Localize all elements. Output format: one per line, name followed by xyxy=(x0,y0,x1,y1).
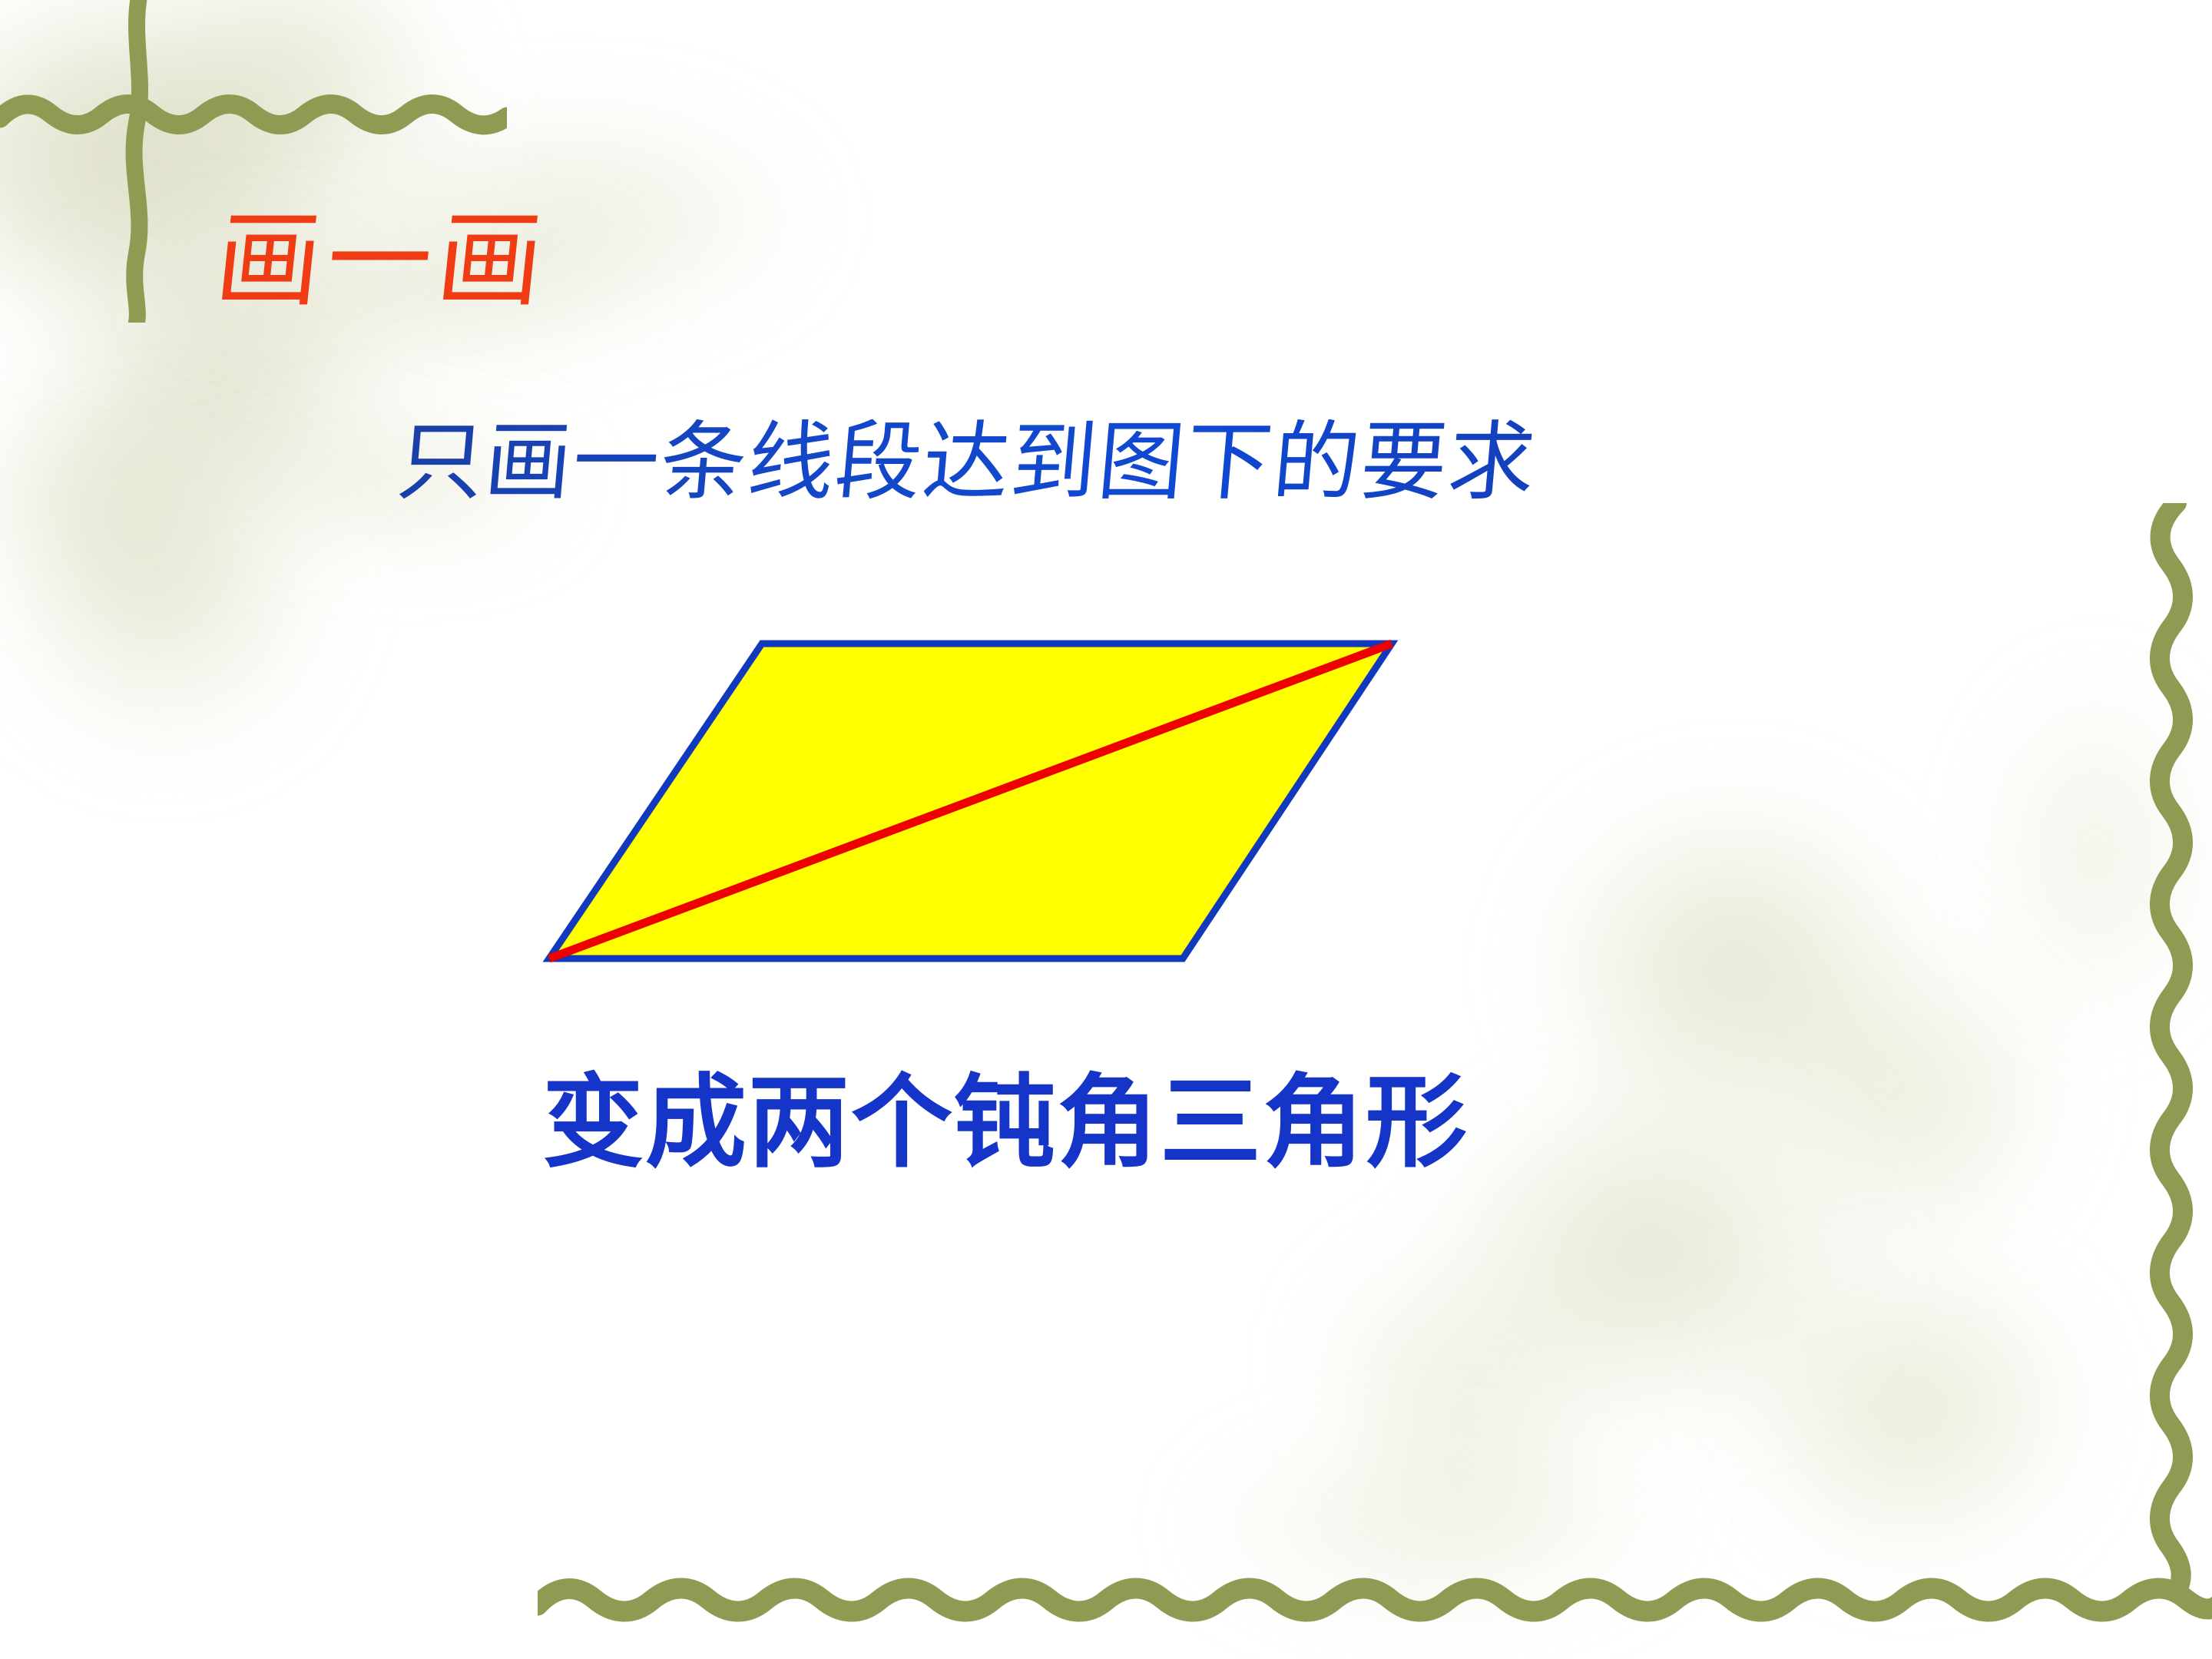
floral-wash-right-edge xyxy=(1966,584,2212,1121)
floral-wash-bottom-right-3 xyxy=(1674,1198,2212,1659)
slide-canvas: 画一画 只画一条线段达到图下的要求 变成两个钝角三角形 xyxy=(0,0,2212,1659)
bottom-wave-border-icon xyxy=(538,1567,2212,1636)
floral-wash-bottom-right-1 xyxy=(1444,730,2074,1329)
instruction-text: 只画一条线段达到图下的要求 xyxy=(394,419,1540,505)
right-wave-border-icon xyxy=(2140,503,2209,1594)
floral-wash-bottom-strip xyxy=(1075,1398,1767,1659)
cross-vertical-stroke-icon xyxy=(108,0,169,323)
top-wave-border-icon xyxy=(0,84,507,146)
parallelogram-diagram xyxy=(507,607,1444,1006)
floral-wash-left-middle xyxy=(0,361,392,868)
answer-caption: 变成两个钝角三角形 xyxy=(542,1072,1469,1174)
page-title: 画一画 xyxy=(211,209,554,313)
